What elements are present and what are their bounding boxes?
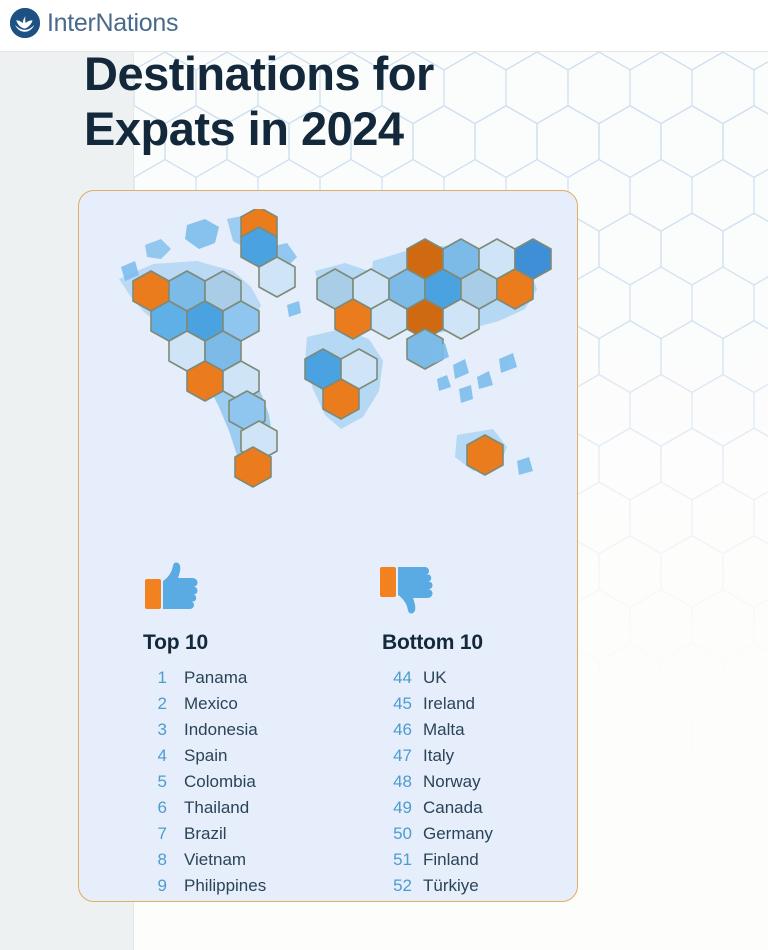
rank-number: 7 [141, 821, 167, 847]
country-name: Vietnam [184, 847, 246, 873]
list-item: 1 Panama [141, 665, 351, 691]
rank-number: 9 [141, 873, 167, 899]
brand-header-bar: InterNations [0, 0, 768, 52]
rank-number: 49 [382, 795, 412, 821]
brand-wordmark: InterNations [47, 9, 178, 38]
rank-number: 52 [382, 873, 412, 899]
rank-number: 50 [382, 821, 412, 847]
internations-dove-logo-icon [10, 8, 40, 38]
list-item: 50 Germany [382, 821, 578, 847]
list-item: 48 Norway [382, 769, 578, 795]
rank-number: 8 [141, 847, 167, 873]
page-title-line-1: Destinations for [84, 47, 434, 100]
sentiment-icons-row [79, 561, 578, 617]
list-item: 6 Thailand [141, 795, 351, 821]
thumbs-down-icon [378, 563, 436, 615]
country-name: Mexico [184, 691, 238, 717]
country-name: Germany [423, 821, 493, 847]
rank-number: 10 [141, 899, 167, 902]
rank-number: 5 [141, 769, 167, 795]
rank-number: 51 [382, 847, 412, 873]
rank-number: 44 [382, 665, 412, 691]
brand-bar-divider [0, 51, 768, 52]
rank-number: 53 [382, 899, 412, 902]
rank-number: 47 [382, 743, 412, 769]
list-item: 52 Türkiye [382, 873, 578, 899]
page-title-line-2: Expats in 2024 [84, 101, 604, 156]
list-item: 4 Spain [141, 743, 351, 769]
top-10-column: Top 10 1 Panama 2 Mexico 3 Indonesia [141, 631, 351, 902]
list-item: 10 UAE [141, 899, 351, 902]
list-item: 44 UK [382, 665, 578, 691]
country-name: Canada [423, 795, 483, 821]
rank-number: 4 [141, 743, 167, 769]
country-name: Brazil [184, 821, 227, 847]
country-name: Norway [423, 769, 481, 795]
bottom-10-column: Bottom 10 44 UK 45 Ireland 46 Malta [382, 631, 578, 902]
ranking-card: Top 10 1 Panama 2 Mexico 3 Indonesia [78, 190, 578, 902]
list-item: 51 Finland [382, 847, 578, 873]
list-item: 8 Vietnam [141, 847, 351, 873]
country-name: Spain [184, 743, 227, 769]
country-name: Malta [423, 717, 465, 743]
country-name: Italy [423, 743, 454, 769]
list-item: 2 Mexico [141, 691, 351, 717]
list-item: 9 Philippines [141, 873, 351, 899]
list-item: 47 Italy [382, 743, 578, 769]
list-item: 7 Brazil [141, 821, 351, 847]
brand-logo-lockup[interactable]: InterNations [10, 8, 178, 38]
country-name: Philippines [184, 873, 266, 899]
list-item: 53 Kuwait [382, 899, 578, 902]
country-name: Finland [423, 847, 479, 873]
country-name: Panama [184, 665, 247, 691]
rank-number: 6 [141, 795, 167, 821]
rank-number: 48 [382, 769, 412, 795]
list-item: 46 Malta [382, 717, 578, 743]
top-10-title: Top 10 [141, 631, 351, 655]
rank-number: 3 [141, 717, 167, 743]
country-name: Türkiye [423, 873, 479, 899]
page-title: Destinations for Expats in 2024 [84, 46, 604, 156]
country-name: UAE [184, 899, 219, 902]
country-name: Kuwait [423, 899, 474, 902]
list-item: 3 Indonesia [141, 717, 351, 743]
rank-number: 46 [382, 717, 412, 743]
hexagon-world-map-icon [101, 209, 561, 509]
rank-number: 2 [141, 691, 167, 717]
country-name: UK [423, 665, 447, 691]
screenshot-root: InterNations [0, 0, 768, 950]
country-name: Indonesia [184, 717, 258, 743]
top-10-list: 1 Panama 2 Mexico 3 Indonesia 4 Spain [141, 665, 351, 902]
country-name: Thailand [184, 795, 249, 821]
bottom-10-list: 44 UK 45 Ireland 46 Malta 47 Italy [382, 665, 578, 902]
rank-number: 45 [382, 691, 412, 717]
list-item: 5 Colombia [141, 769, 351, 795]
list-item: 49 Canada [382, 795, 578, 821]
country-name: Ireland [423, 691, 475, 717]
country-name: Colombia [184, 769, 256, 795]
list-item: 45 Ireland [382, 691, 578, 717]
thumbs-up-icon [143, 561, 201, 613]
rank-number: 1 [141, 665, 167, 691]
bottom-10-title: Bottom 10 [382, 631, 578, 655]
